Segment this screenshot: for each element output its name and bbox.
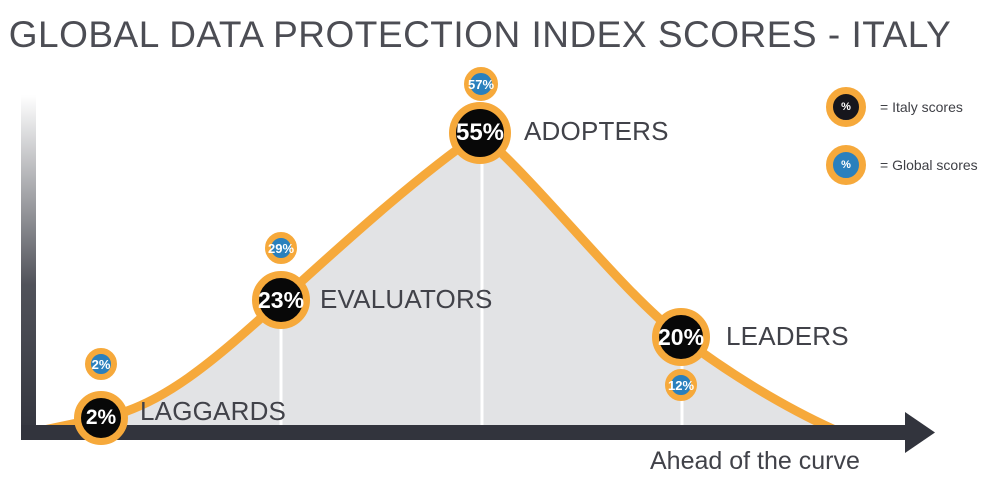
legend-label-global: = Global scores	[880, 157, 978, 173]
legend-item-italy[interactable]: % = Italy scores	[826, 78, 978, 136]
infographic-root: GLOBAL DATA PROTECTION INDEX SCORES - IT…	[0, 0, 1000, 479]
italy-score-marker-adopters[interactable]: 55%	[449, 102, 511, 164]
global-score-marker-adopters[interactable]: 57%	[464, 67, 498, 101]
italy-score-marker-leaders[interactable]: 20%	[652, 308, 710, 366]
category-label-laggards: LAGGARDS	[140, 396, 286, 427]
global-score-marker-laggards[interactable]: 2%	[85, 348, 117, 380]
italy-score-marker-laggards[interactable]: 2%	[74, 391, 128, 445]
category-label-leaders: LEADERS	[726, 321, 849, 352]
percent-icon-global: %	[826, 145, 866, 185]
global-score-marker-evaluators[interactable]: 29%	[265, 232, 297, 264]
arrow-right-icon	[905, 412, 935, 453]
x-axis	[21, 425, 911, 440]
axis-caption: Ahead of the curve	[650, 447, 860, 476]
legend-item-global[interactable]: % = Global scores	[826, 136, 978, 194]
category-label-evaluators: EVALUATORS	[320, 284, 493, 315]
category-label-adopters: ADOPTERS	[524, 116, 669, 147]
legend-label-italy: = Italy scores	[880, 99, 963, 115]
curve-area-fill	[34, 133, 840, 432]
italy-score-marker-evaluators[interactable]: 23%	[252, 271, 310, 329]
percent-icon-italy: %	[826, 87, 866, 127]
legend: % = Italy scores % = Global scores	[826, 78, 978, 194]
y-axis	[21, 95, 36, 440]
global-score-marker-leaders[interactable]: 12%	[665, 369, 697, 401]
